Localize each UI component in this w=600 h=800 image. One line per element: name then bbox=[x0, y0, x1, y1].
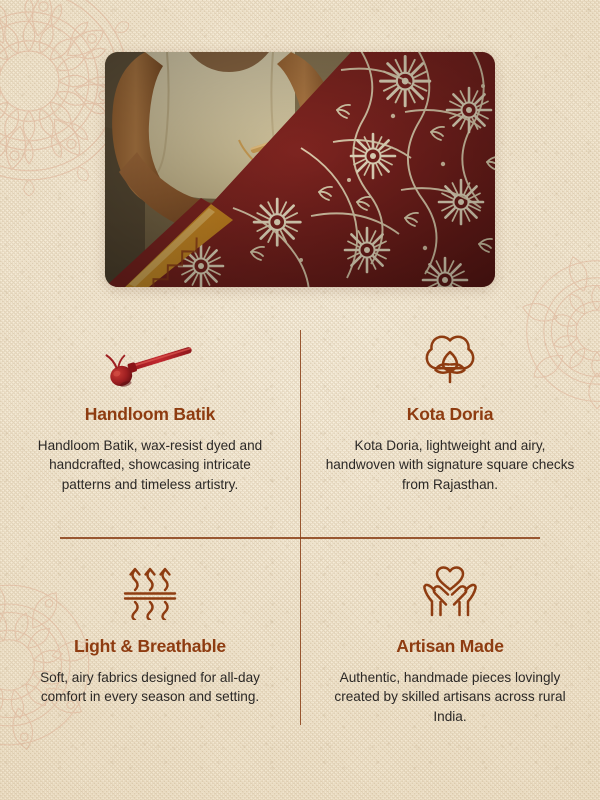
feature-description: Kota Doria, lightweight and airy, handwo… bbox=[325, 436, 575, 494]
feature-description: Soft, airy fabrics designed for all-day … bbox=[25, 668, 275, 707]
feature-panel: Handloom Batik Handloom Batik, wax-resis… bbox=[0, 0, 600, 800]
feature-card-handloom-batik: Handloom Batik Handloom Batik, wax-resis… bbox=[0, 318, 300, 538]
feature-card-kota-doria: Kota Doria Kota Doria, lightweight and a… bbox=[300, 318, 600, 538]
hands-holding-heart-icon bbox=[418, 560, 482, 620]
feature-title: Light & Breathable bbox=[74, 636, 226, 657]
feature-title: Handloom Batik bbox=[85, 404, 215, 425]
breathable-airflow-icon bbox=[119, 560, 181, 620]
feature-description: Handloom Batik, wax-resist dyed and hand… bbox=[25, 436, 275, 494]
artisan-batik-illustration bbox=[105, 52, 495, 287]
feature-description: Authentic, handmade pieces lovingly crea… bbox=[325, 668, 575, 726]
artisan-batik-photo bbox=[105, 52, 495, 287]
feature-card-light-breathable: Light & Breathable Soft, airy fabrics de… bbox=[0, 538, 300, 758]
feature-card-artisan-made: Artisan Made Authentic, handmade pieces … bbox=[300, 538, 600, 758]
feature-grid: Handloom Batik Handloom Batik, wax-resis… bbox=[0, 318, 600, 758]
feature-title: Kota Doria bbox=[407, 404, 493, 425]
cotton-boll-icon bbox=[420, 328, 480, 388]
batik-tjanting-tool-icon bbox=[102, 328, 198, 388]
feature-title: Artisan Made bbox=[396, 636, 504, 657]
